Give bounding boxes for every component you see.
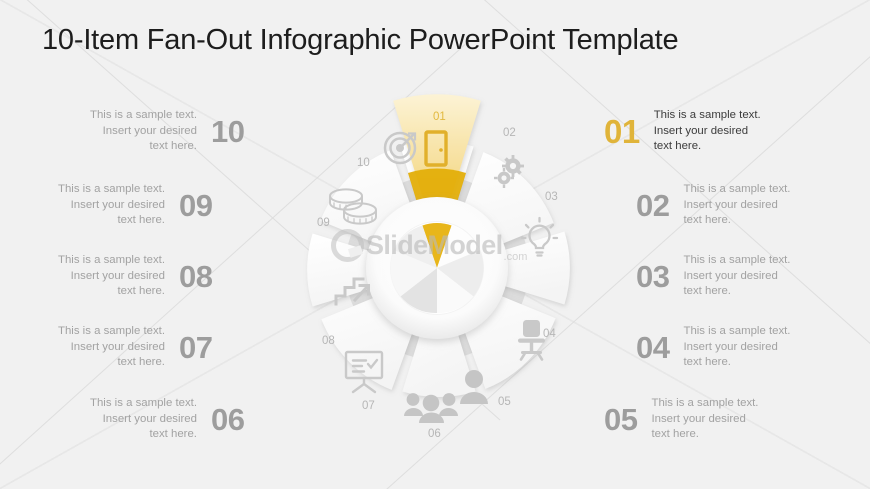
item-text-line3: text here. [683,284,790,300]
wheel-label-01: 01 [433,111,446,123]
fan-out-wheel: 01 02 03 04 05 06 07 08 09 10 [300,80,575,460]
page-title: 10-Item Fan-Out Infographic PowerPoint T… [42,24,678,57]
item-text-line3: text here. [683,213,790,229]
item-text-line2: Insert your desired [90,412,197,428]
item-text-line1: This is a sample text. [90,396,197,412]
item-text-line2: Insert your desired [683,198,790,214]
item-number: 10 [211,116,244,147]
wheel-label-09: 09 [317,217,330,229]
item-number: 09 [179,190,212,221]
item-number: 05 [604,404,637,435]
item-number: 02 [636,190,669,221]
item-text-line1: This is a sample text. [58,182,165,198]
wheel-label-02: 02 [503,127,516,139]
list-item-08[interactable]: This is a sample text. Insert your desir… [58,253,212,300]
list-item-03[interactable]: 03 This is a sample text. Insert your de… [636,253,790,300]
list-item-09[interactable]: This is a sample text. Insert your desir… [58,182,212,229]
item-text-line3: text here. [654,139,761,155]
item-text-line1: This is a sample text. [58,324,165,340]
item-text-line3: text here. [90,139,197,155]
item-text-line3: text here. [90,427,197,443]
item-text: This is a sample text. Insert your desir… [654,108,761,155]
item-text-line2: Insert your desired [58,269,165,285]
item-text-line1: This is a sample text. [683,324,790,340]
wheel-label-10: 10 [357,157,370,169]
wheel-label-08: 08 [322,335,335,347]
item-text-line3: text here. [58,284,165,300]
item-text-line1: This is a sample text. [654,108,761,124]
item-text-line1: This is a sample text. [58,253,165,269]
item-text: This is a sample text. Insert your desir… [58,253,165,300]
list-item-04[interactable]: 04 This is a sample text. Insert your de… [636,324,790,371]
item-text-line2: Insert your desired [58,198,165,214]
item-text-line3: text here. [58,213,165,229]
item-number: 07 [179,332,212,363]
item-text: This is a sample text. Insert your desir… [683,253,790,300]
item-number: 04 [636,332,669,363]
slide-canvas: 10-Item Fan-Out Infographic PowerPoint T… [0,0,870,489]
list-item-05[interactable]: 05 This is a sample text. Insert your de… [604,396,758,443]
list-item-06[interactable]: This is a sample text. Insert your desir… [90,396,244,443]
item-text-line2: Insert your desired [90,124,197,140]
wheel-label-04: 04 [543,328,556,340]
item-text: This is a sample text. Insert your desir… [651,396,758,443]
wheel-label-03: 03 [545,191,558,203]
wheel-label-07: 07 [362,400,375,412]
item-text: This is a sample text. Insert your desir… [683,182,790,229]
item-number: 03 [636,261,669,292]
item-text-line2: Insert your desired [683,269,790,285]
item-text-line2: Insert your desired [654,124,761,140]
people-group-icon [404,393,458,423]
item-text-line2: Insert your desired [651,412,758,428]
list-item-10[interactable]: This is a sample text. Insert your desir… [90,108,244,155]
list-item-01[interactable]: 01 This is a sample text. Insert your de… [604,108,761,155]
item-text: This is a sample text. Insert your desir… [90,108,197,155]
wheel-label-05: 05 [498,396,511,408]
item-text: This is a sample text. Insert your desir… [90,396,197,443]
target-arrow-icon [385,133,415,163]
wheel-label-06: 06 [428,428,441,440]
item-number: 01 [604,115,640,148]
item-text-line1: This is a sample text. [90,108,197,124]
item-text-line2: Insert your desired [58,340,165,356]
item-number: 08 [179,261,212,292]
item-text: This is a sample text. Insert your desir… [683,324,790,371]
item-text-line1: This is a sample text. [683,253,790,269]
item-text-line3: text here. [58,355,165,371]
wheel-center-pie [390,222,483,314]
item-text: This is a sample text. Insert your desir… [58,324,165,371]
item-number: 06 [211,404,244,435]
item-text-line3: text here. [683,355,790,371]
list-item-07[interactable]: This is a sample text. Insert your desir… [58,324,212,371]
item-text-line2: Insert your desired [683,340,790,356]
list-item-02[interactable]: 02 This is a sample text. Insert your de… [636,182,790,229]
item-text-line3: text here. [651,427,758,443]
item-text-line1: This is a sample text. [651,396,758,412]
item-text: This is a sample text. Insert your desir… [58,182,165,229]
item-text-line1: This is a sample text. [683,182,790,198]
